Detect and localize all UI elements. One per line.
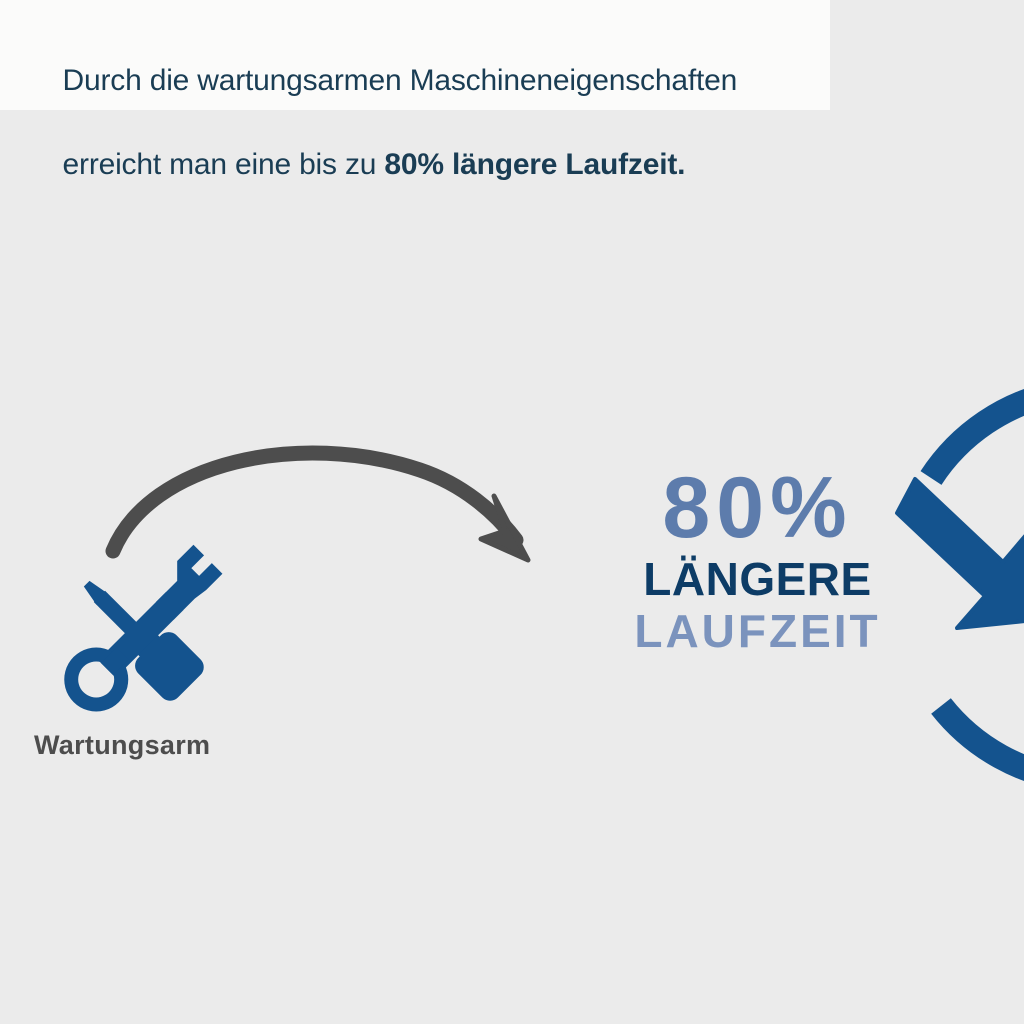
maintenance-label: Wartungsarm: [34, 730, 210, 761]
infographic-canvas: [0, 0, 1024, 1024]
curved-arrow-right-icon: [113, 453, 528, 560]
infographic-svg: [0, 0, 1024, 1024]
wrench-screwdriver-icon: [51, 541, 235, 725]
circular-arrow-icon: [897, 389, 1024, 781]
